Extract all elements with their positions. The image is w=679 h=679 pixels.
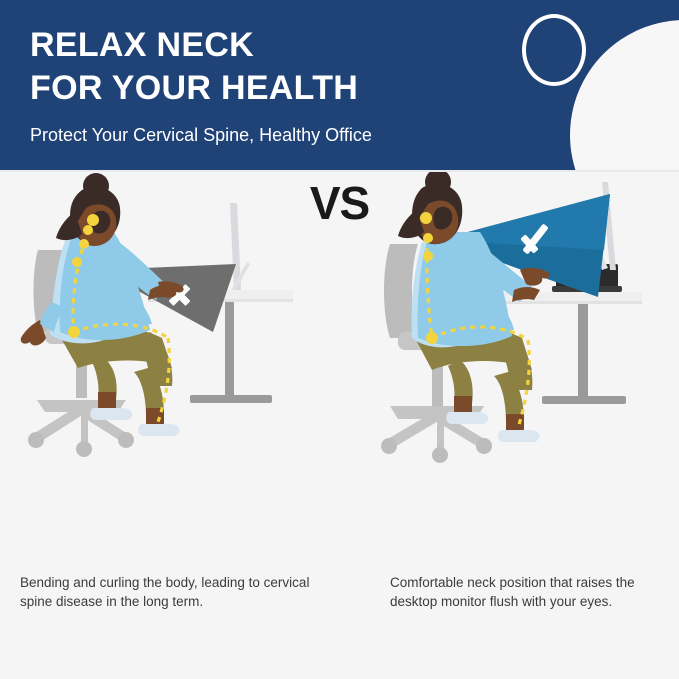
page-subtitle: Protect Your Cervical Spine, Healthy Off… xyxy=(30,123,372,147)
caption-good-posture: Comfortable neck position that raises th… xyxy=(390,573,670,611)
circle-filled-icon xyxy=(570,20,679,170)
header-text-block: RELAX NECK FOR YOUR HEALTH Protect Your … xyxy=(30,24,372,147)
page-title-line-2: FOR YOUR HEALTH xyxy=(30,67,372,110)
vs-divider-label: VS xyxy=(0,176,679,230)
poster-root: RELAX NECK FOR YOUR HEALTH Protect Your … xyxy=(0,0,679,679)
header-banner: RELAX NECK FOR YOUR HEALTH Protect Your … xyxy=(0,0,679,170)
page-title-line-1: RELAX NECK xyxy=(30,24,372,67)
circle-outline-icon xyxy=(522,14,586,86)
caption-bad-posture: Bending and curling the body, leading to… xyxy=(20,573,320,611)
